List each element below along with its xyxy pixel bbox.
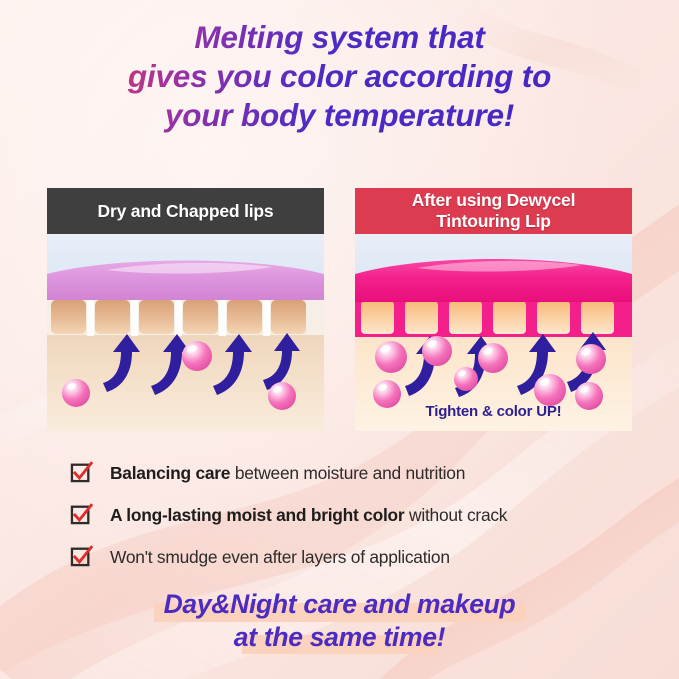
- tagline-line-1: Day&Night care and makeup: [164, 588, 516, 621]
- page-title: Melting system that gives you color acco…: [0, 18, 679, 135]
- panel-after-title: After using Dewycel: [412, 190, 575, 211]
- list-item: Won't smudge even after layers of applic…: [70, 536, 630, 578]
- comparison-panels: Dry and Chapped lips: [47, 188, 632, 431]
- headline-line-3: your body temperature!: [0, 96, 679, 135]
- tagline-line-2: at the same time!: [164, 621, 516, 654]
- panel-after-figure: Tighten & color UP!: [355, 234, 632, 431]
- list-item-text: Won't smudge even after layers of applic…: [110, 547, 450, 568]
- list-item-bold: A long-lasting moist and bright color: [110, 505, 404, 525]
- list-item: Balancing care between moisture and nutr…: [70, 452, 630, 494]
- list-item-rest: between moisture and nutrition: [230, 463, 465, 483]
- list-item-text: Balancing care between moisture and nutr…: [110, 463, 465, 484]
- tagline-container: Day&Night care and makeup at the same ti…: [0, 588, 679, 654]
- panel-before-header: Dry and Chapped lips: [47, 188, 324, 234]
- panel-before-figure: [47, 234, 324, 431]
- infographic-root: Melting system that gives you color acco…: [0, 0, 679, 679]
- panel-before-title: Dry and Chapped lips: [98, 201, 274, 222]
- panel-after-title-line2: Tintouring Lip: [412, 211, 575, 232]
- headline-line-2: gives you color according to: [0, 57, 679, 96]
- panel-before: Dry and Chapped lips: [47, 188, 324, 431]
- panel-after-caption: Tighten & color UP!: [355, 403, 632, 420]
- checkbox-icon: [70, 545, 93, 568]
- list-item: A long-lasting moist and bright color wi…: [70, 494, 630, 536]
- list-item-rest: without crack: [404, 505, 507, 525]
- checkbox-icon: [70, 503, 93, 526]
- panel-after: After using Dewycel Tintouring Lip: [355, 188, 632, 431]
- headline-line-1: Melting system that: [0, 18, 679, 57]
- list-item-rest: Won't smudge even after layers of applic…: [110, 547, 450, 567]
- list-item-bold: Balancing care: [110, 463, 230, 483]
- checkbox-icon: [70, 461, 93, 484]
- benefit-list: Balancing care between moisture and nutr…: [70, 452, 630, 578]
- tagline: Day&Night care and makeup at the same ti…: [164, 588, 516, 654]
- list-item-text: A long-lasting moist and bright color wi…: [110, 505, 507, 526]
- panel-after-header: After using Dewycel Tintouring Lip: [355, 188, 632, 234]
